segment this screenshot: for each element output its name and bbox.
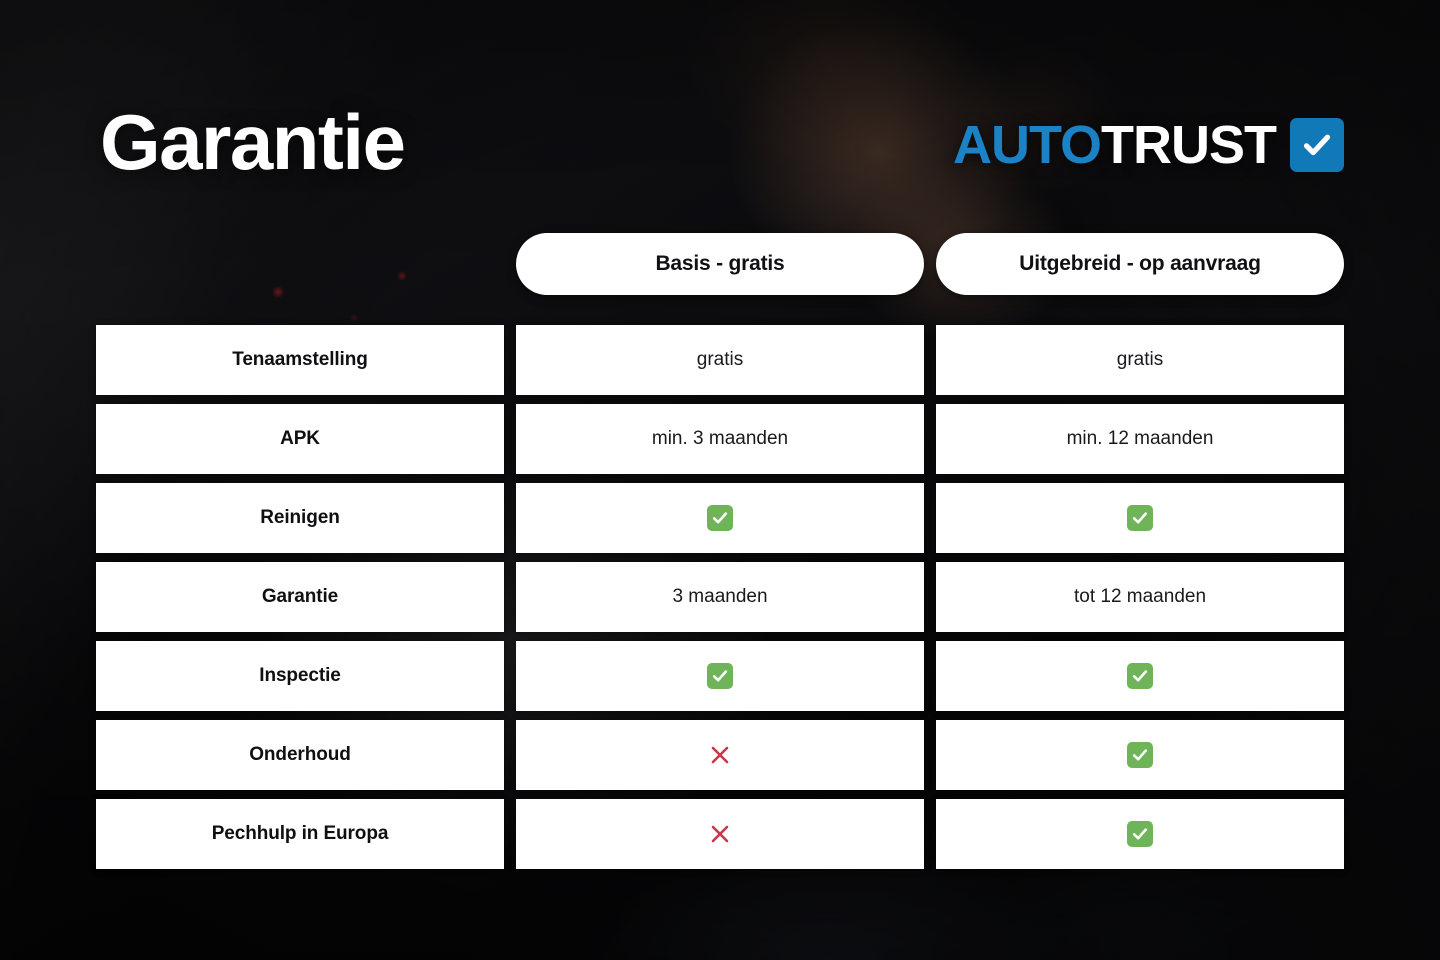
table-header-row: Basis - gratis Uitgebreid - op aanvraag — [96, 233, 1344, 295]
green-check-icon — [1127, 663, 1153, 689]
row-label-cell: Reinigen — [96, 483, 504, 553]
cell-value-text: tot 12 maanden — [1074, 586, 1206, 608]
brand-wordmark: AUTOTRUST — [953, 118, 1276, 172]
brand-logo: AUTOTRUST — [953, 117, 1344, 173]
red-cross-icon — [706, 741, 734, 769]
plan-header-uitgebreid[interactable]: Uitgebreid - op aanvraag — [936, 233, 1344, 295]
table-row: Tenaamstellinggratisgratis — [96, 325, 1344, 395]
green-check-icon — [1127, 821, 1153, 847]
cell-uitgebreid: tot 12 maanden — [936, 562, 1344, 632]
row-label-cell: Inspectie — [96, 641, 504, 711]
table-row: Garantie3 maandentot 12 maanden — [96, 562, 1344, 632]
table-row: Pechhulp in Europa — [96, 799, 1344, 869]
row-label-cell: APK — [96, 404, 504, 474]
cell-basis: 3 maanden — [516, 562, 924, 632]
cell-uitgebreid — [936, 641, 1344, 711]
cell-value-text: 3 maanden — [672, 586, 767, 608]
cell-basis: min. 3 maanden — [516, 404, 924, 474]
brand-wordmark-trust: TRUST — [1101, 115, 1276, 175]
cell-basis — [516, 799, 924, 869]
green-check-icon — [707, 663, 733, 689]
plan-header-basis[interactable]: Basis - gratis — [516, 233, 924, 295]
cell-uitgebreid — [936, 720, 1344, 790]
table-body: TenaamstellinggratisgratisAPKmin. 3 maan… — [96, 325, 1344, 869]
cell-basis — [516, 641, 924, 711]
table-row: Inspectie — [96, 641, 1344, 711]
slide-canvas: Garantie AUTOTRUST Basis - gratis Uitgeb… — [0, 0, 1440, 960]
cell-uitgebreid — [936, 799, 1344, 869]
row-label-cell: Garantie — [96, 562, 504, 632]
cell-value-text: gratis — [697, 349, 743, 371]
cell-uitgebreid: min. 12 maanden — [936, 404, 1344, 474]
cell-value-text: gratis — [1117, 349, 1163, 371]
cell-basis — [516, 720, 924, 790]
row-label-cell: Tenaamstelling — [96, 325, 504, 395]
plan-header-basis-label: Basis - gratis — [516, 233, 924, 295]
table-row: Onderhoud — [96, 720, 1344, 790]
table-row: APKmin. 3 maandenmin. 12 maanden — [96, 404, 1344, 474]
page-title: Garantie — [100, 103, 404, 181]
green-check-icon — [707, 505, 733, 531]
cell-uitgebreid: gratis — [936, 325, 1344, 395]
table-row: Reinigen — [96, 483, 1344, 553]
plan-header-uitgebreid-label: Uitgebreid - op aanvraag — [936, 233, 1344, 295]
cell-value-text: min. 12 maanden — [1067, 428, 1214, 450]
green-check-icon — [1127, 505, 1153, 531]
green-check-icon — [1127, 742, 1153, 768]
brand-wordmark-auto: AUTO — [953, 115, 1101, 175]
row-label-cell: Onderhoud — [96, 720, 504, 790]
warranty-comparison-table: Basis - gratis Uitgebreid - op aanvraag … — [96, 233, 1344, 878]
row-label-cell: Pechhulp in Europa — [96, 799, 504, 869]
check-badge-icon — [1290, 118, 1344, 172]
cell-value-text: min. 3 maanden — [652, 428, 788, 450]
cell-basis — [516, 483, 924, 553]
red-cross-icon — [706, 820, 734, 848]
cell-uitgebreid — [936, 483, 1344, 553]
cell-basis: gratis — [516, 325, 924, 395]
